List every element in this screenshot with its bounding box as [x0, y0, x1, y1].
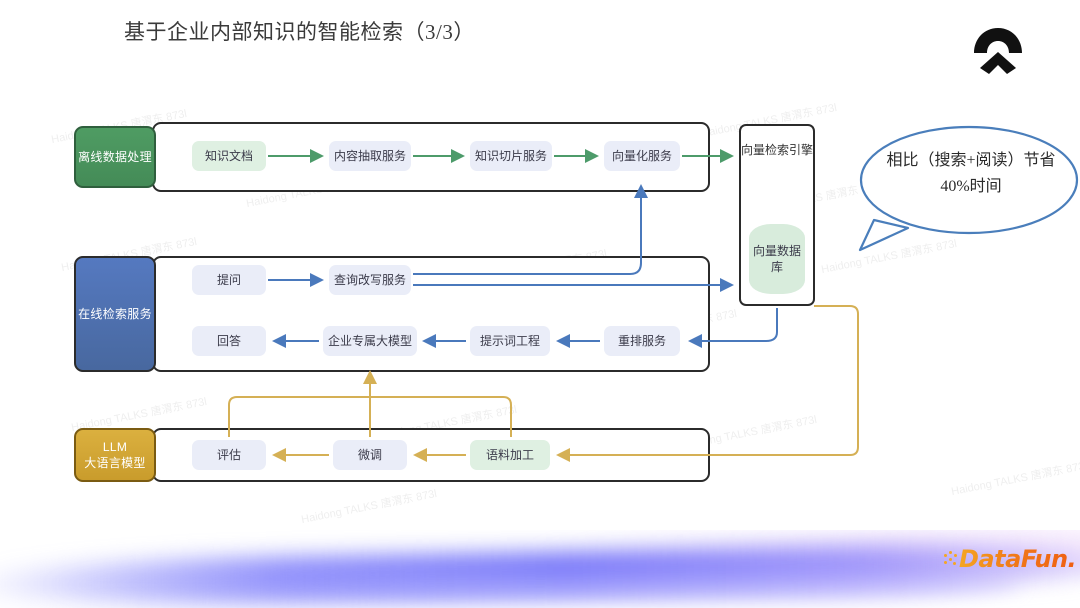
callout-bubble: 相比（搜索+阅读）节省40%时间: [858, 122, 1080, 252]
lane-label-online-text: 在线检索服务: [78, 306, 152, 322]
node-enterprise-llm-label: 企业专属大模型: [328, 334, 412, 349]
lane-label-llm-line2: 大语言模型: [84, 455, 146, 471]
node-corpus-processing-label: 语料加工: [486, 448, 534, 463]
node-evaluation-label: 评估: [217, 448, 241, 463]
node-content-extraction: 内容抽取服务: [329, 141, 411, 171]
node-finetune-label: 微调: [358, 448, 382, 463]
node-vector-engine-label: 向量检索引擎: [741, 143, 813, 158]
node-finetune: 微调: [333, 440, 407, 470]
node-answer: 回答: [192, 326, 266, 356]
node-rerank-label: 重排服务: [618, 334, 666, 349]
lane-label-llm: LLM 大语言模型: [74, 428, 156, 482]
node-rerank: 重排服务: [604, 326, 680, 356]
node-vectorization: 向量化服务: [604, 141, 680, 171]
node-question-label: 提问: [217, 273, 241, 288]
node-evaluation: 评估: [192, 440, 266, 470]
lane-label-offline-text: 离线数据处理: [78, 149, 152, 165]
datafun-dots-icon: [944, 549, 958, 569]
node-vector-database-label: 向量数据库: [749, 243, 805, 275]
architecture-diagram: 离线数据处理 在线检索服务 LLM 大语言模型 向量检索引擎 向量数据库 知识文…: [0, 0, 1080, 608]
decorative-wave: [0, 530, 1080, 608]
node-prompt-engineering-label: 提示词工程: [480, 334, 540, 349]
node-answer-label: 回答: [217, 334, 241, 349]
lane-label-llm-line1: LLM: [103, 439, 127, 455]
node-enterprise-llm: 企业专属大模型: [323, 326, 417, 356]
callout-text: 相比（搜索+阅读）节省40%时间: [886, 148, 1056, 200]
node-knowledge-doc: 知识文档: [192, 141, 266, 171]
datafun-logo-text: DataFun.: [959, 545, 1076, 573]
lane-label-offline: 离线数据处理: [74, 126, 156, 188]
node-vector-engine: 向量检索引擎: [739, 134, 815, 166]
node-query-rewrite-label: 查询改写服务: [334, 273, 406, 288]
node-corpus-processing: 语料加工: [470, 440, 550, 470]
node-knowledge-chunking-label: 知识切片服务: [475, 149, 547, 164]
node-prompt-engineering: 提示词工程: [470, 326, 550, 356]
slide-root: Haidong TALKS 唐渭东 873l Haidong TALKS 唐渭东…: [0, 0, 1080, 608]
node-question: 提问: [192, 265, 266, 295]
node-knowledge-chunking: 知识切片服务: [470, 141, 552, 171]
node-query-rewrite: 查询改写服务: [329, 265, 411, 295]
lane-label-online: 在线检索服务: [74, 256, 156, 372]
node-content-extraction-label: 内容抽取服务: [334, 149, 406, 164]
node-vectorization-label: 向量化服务: [612, 149, 672, 164]
node-vector-database: 向量数据库: [749, 224, 805, 294]
datafun-logo: DataFun.: [944, 546, 1076, 572]
node-knowledge-doc-label: 知识文档: [205, 149, 253, 164]
